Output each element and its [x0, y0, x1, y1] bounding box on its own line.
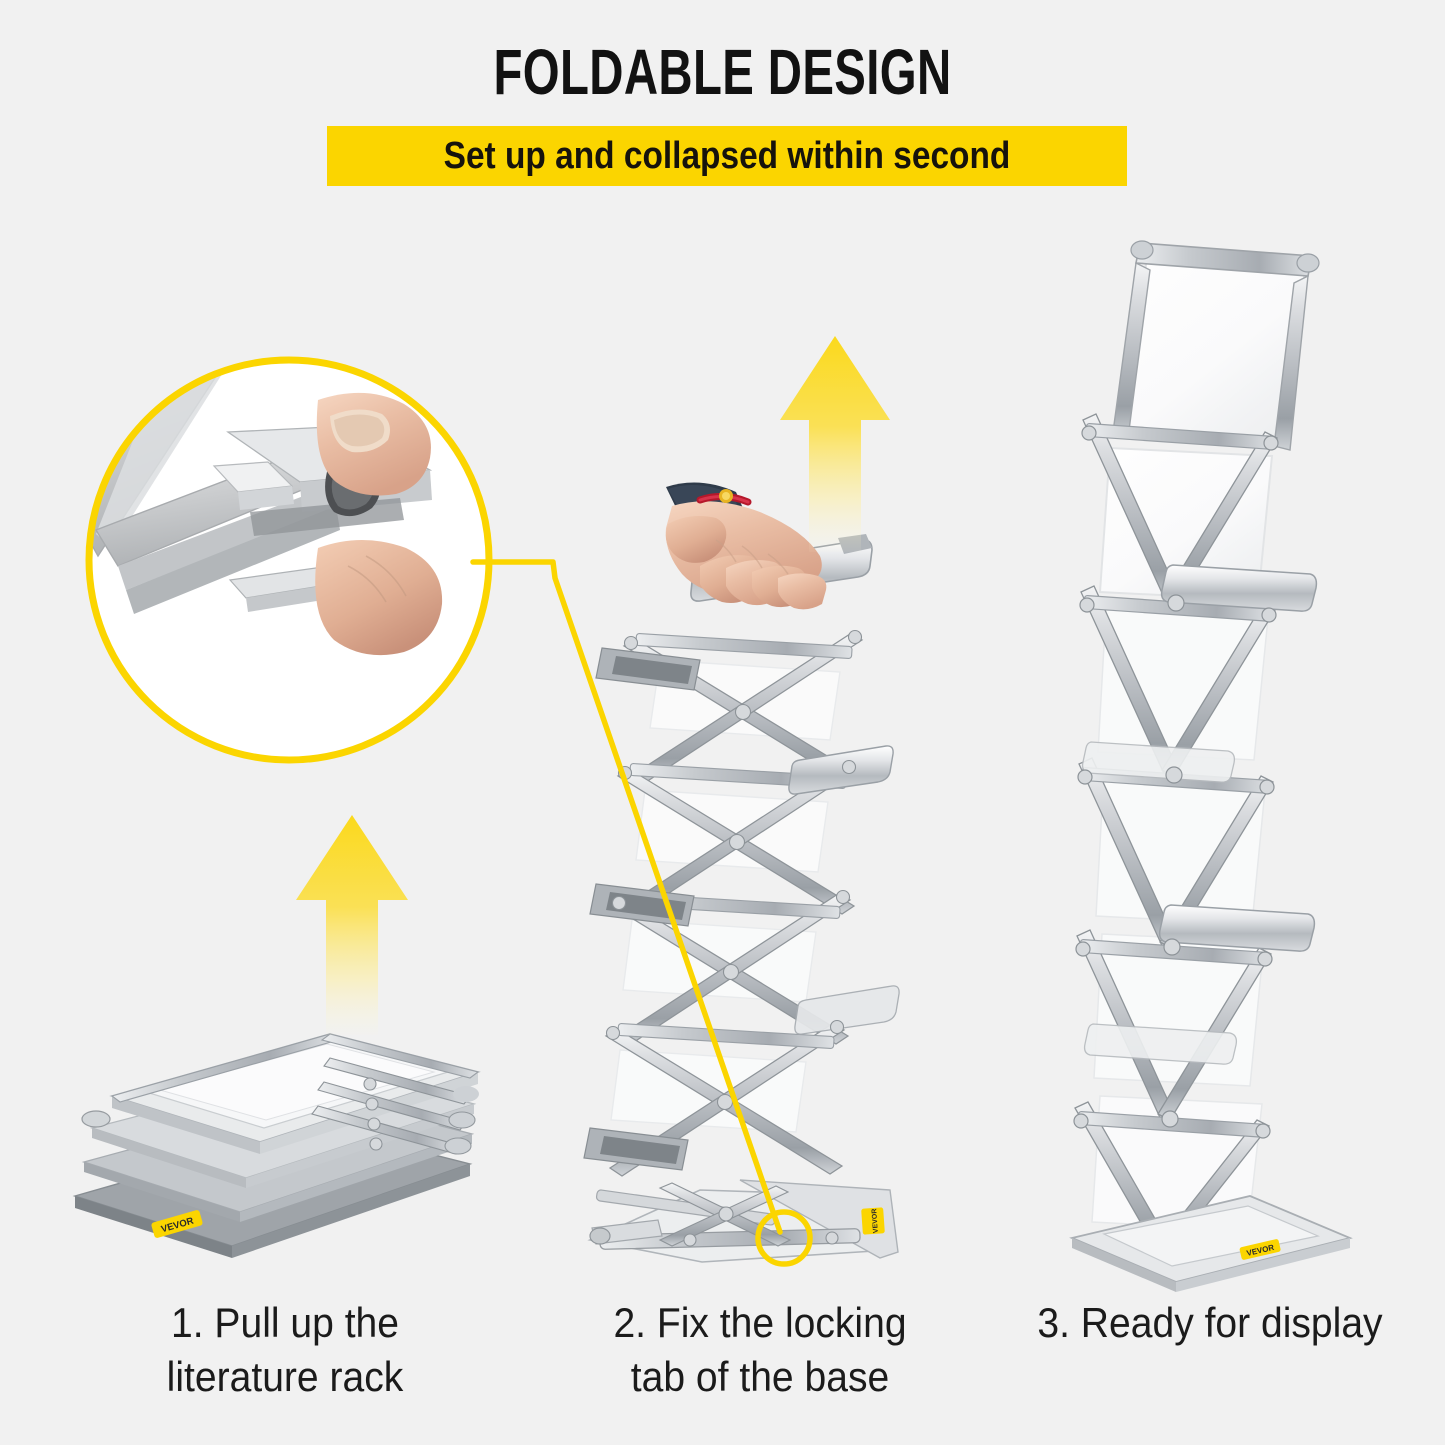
hand-lifting-rack	[666, 483, 827, 610]
detail-callout-circle	[78, 352, 489, 760]
vevor-badge: VEVOR	[151, 1209, 203, 1238]
shelf-lip	[1083, 565, 1317, 1064]
step-3-caption: 3. Ready for display	[1015, 1296, 1406, 1350]
svg-text:VEVOR: VEVOR	[871, 1208, 880, 1233]
step-1-folded-stack: VEVOR	[75, 1034, 479, 1258]
svg-text:VEVOR: VEVOR	[160, 1216, 195, 1236]
rack-top-bar	[691, 534, 872, 601]
illustration-stage: VEVOR	[0, 0, 1445, 1445]
step-1-caption: 1. Pull up the literature rack	[76, 1296, 495, 1404]
infographic-root: FOLDABLE DESIGN Set up and collapsed wit…	[0, 0, 1445, 1445]
subtitle-banner-label: Set up and collapsed within second	[375, 126, 1079, 186]
callout-connector-line	[473, 562, 810, 1264]
step-2-partial-rack: VEVOR	[584, 483, 899, 1262]
rack-base-locking: VEVOR	[590, 1180, 898, 1262]
step-2-caption: 2. Fix the locking tab of the base	[560, 1296, 960, 1404]
page-title: FOLDABLE DESIGN	[188, 36, 1257, 108]
svg-text:VEVOR: VEVOR	[1246, 1243, 1276, 1258]
up-arrow-step-1	[296, 815, 408, 1035]
rack-base-plate: VEVOR	[1072, 1196, 1350, 1292]
vevor-badge: VEVOR	[861, 1207, 885, 1234]
subtitle-banner: Set up and collapsed within second	[327, 126, 1127, 186]
folded-shelf-lip	[584, 648, 700, 1170]
up-arrow-step-2	[780, 336, 890, 552]
step-3-expanded-rack: VEVOR	[1072, 241, 1350, 1292]
locking-tab-highlight-circle	[758, 1212, 810, 1264]
vevor-badge: VEVOR	[1239, 1239, 1281, 1261]
